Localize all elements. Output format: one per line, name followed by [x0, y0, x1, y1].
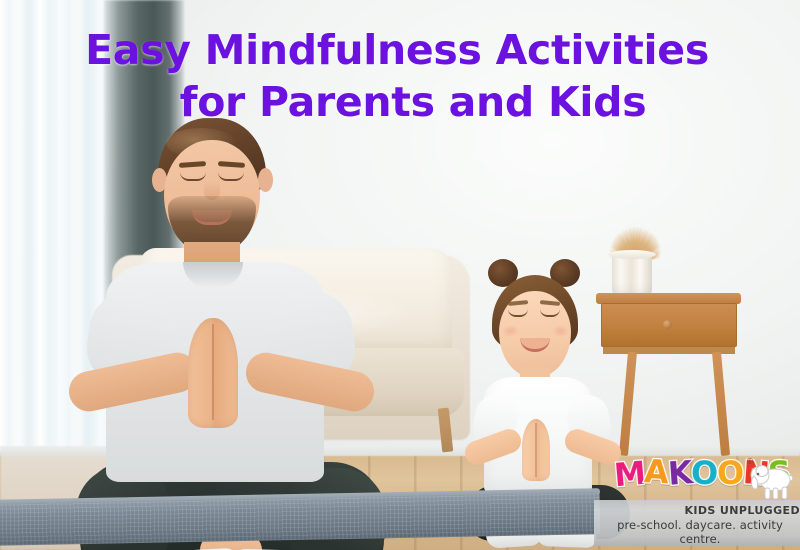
logo-letter-a: A	[643, 454, 670, 489]
makoons-logo[interactable]: M A K O O N S ®	[608, 456, 800, 544]
child-cheek	[502, 325, 519, 337]
drawer-knob	[663, 320, 672, 329]
logo-letter-m: M	[613, 456, 648, 493]
promo-graphic-canvas: Easy Mindfulness Activities for Parents …	[0, 0, 800, 550]
child-cheek	[552, 325, 569, 337]
logo-letter-o2: O	[716, 455, 745, 490]
elephant-mascot-icon	[748, 462, 796, 502]
adult-figure	[40, 110, 410, 530]
child-prayer-hands	[522, 419, 550, 481]
logo-tagline-secondary: pre-school. daycare. activity centre.	[600, 518, 800, 546]
logo-letter-o1: O	[691, 456, 719, 491]
logo-letter-k: K	[666, 455, 693, 491]
logo-tagline-primary: KIDS UNPLUGGED	[608, 504, 800, 517]
adult-ear	[258, 168, 273, 192]
adult-prayer-hands	[188, 318, 238, 428]
